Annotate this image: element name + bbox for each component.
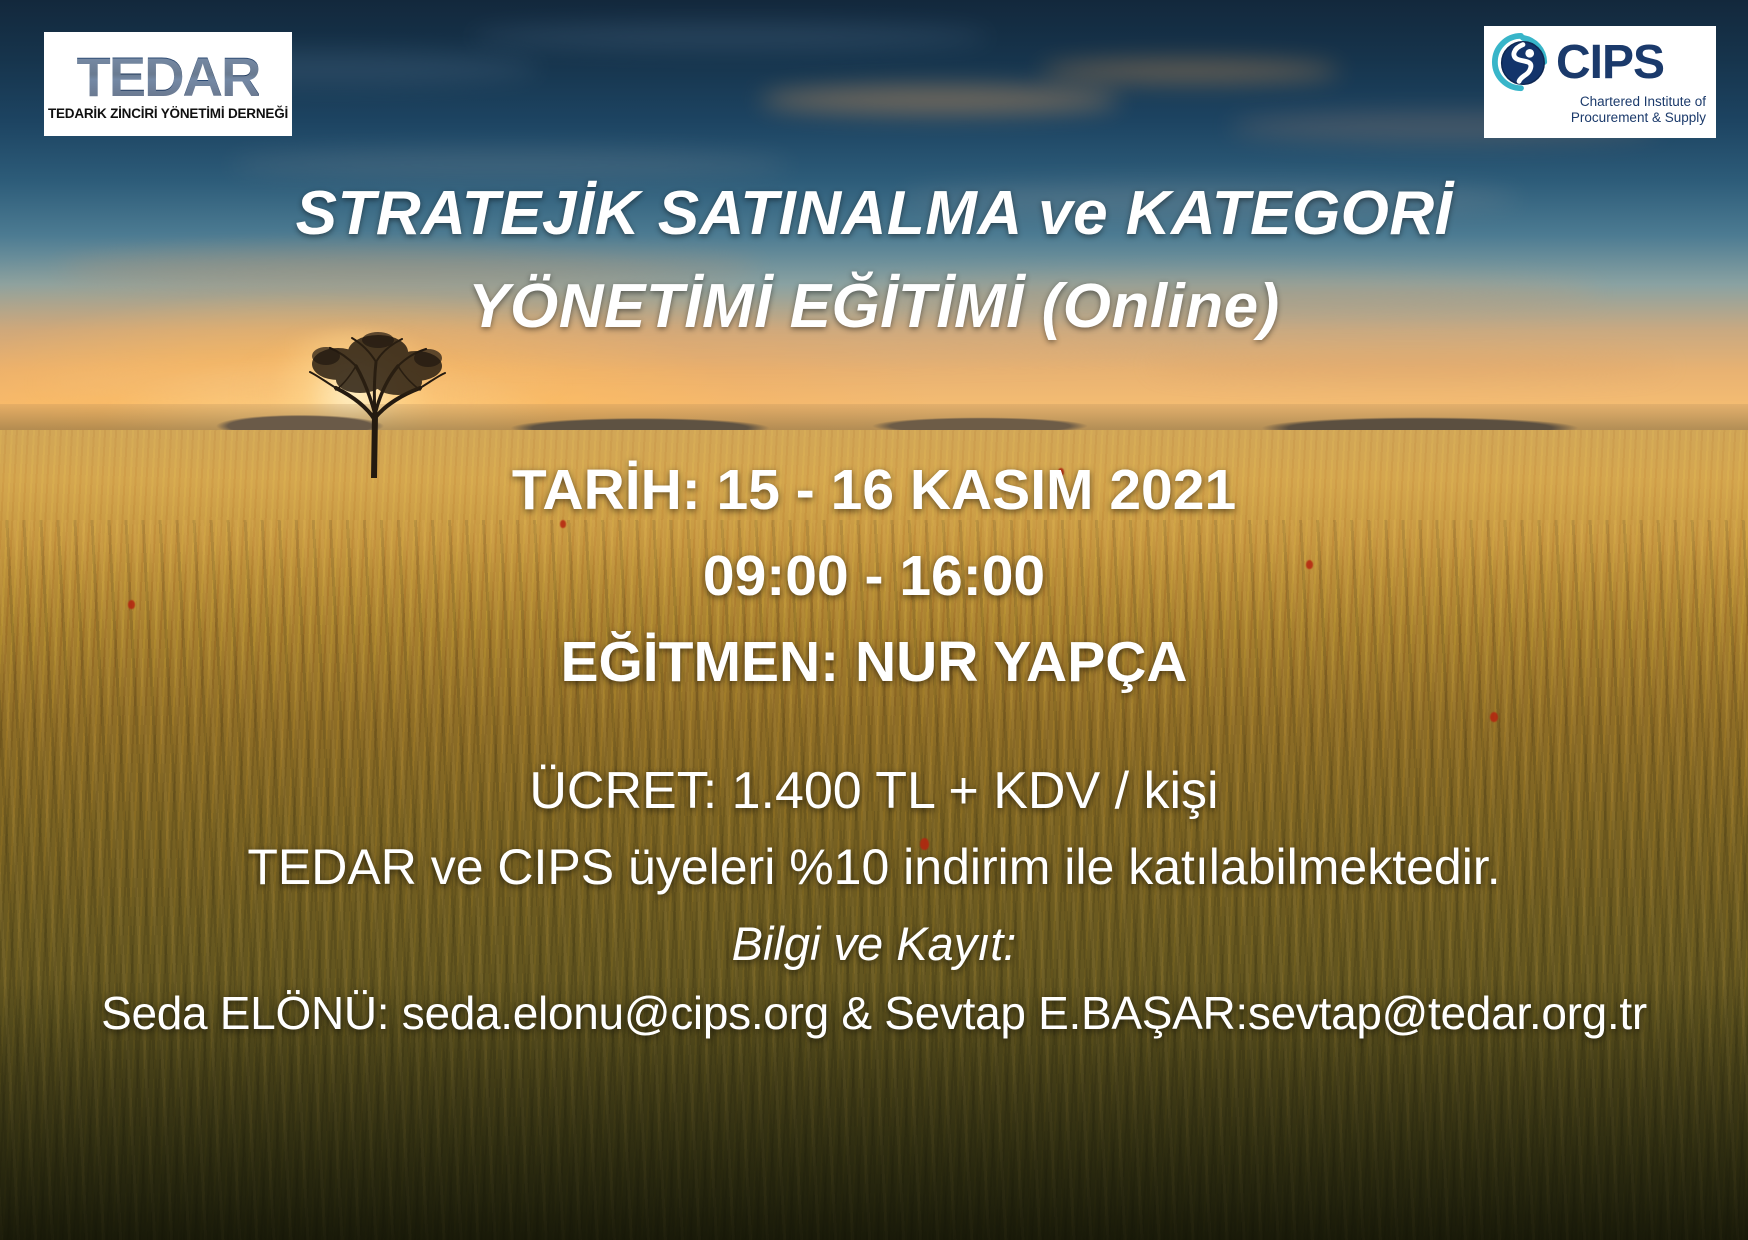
registration-heading: Bilgi ve Kayıt: xyxy=(0,920,1748,967)
event-time: 09:00 - 16:00 xyxy=(0,548,1748,605)
member-discount-note: TEDAR ve CIPS üyeleri %10 indirim ile ka… xyxy=(0,842,1748,892)
poster-content: STRATEJİK SATINALMA ve KATEGORİ YÖNETİMİ… xyxy=(0,0,1748,1240)
event-fee: ÜCRET: 1.400 TL + KDV / kişi xyxy=(0,765,1748,817)
event-trainer: EĞİTMEN: NUR YAPÇA xyxy=(0,634,1748,691)
page-title-line-2: YÖNETİMİ EĞİTİMİ (Online) xyxy=(0,275,1748,338)
contact-line: Seda ELÖNÜ: seda.elonu@cips.org & Sevtap… xyxy=(0,990,1748,1036)
poster: TEDAR TEDARİK ZİNCİRİ YÖNETİMİ DERNEĞİ C… xyxy=(0,0,1748,1240)
page-title-line-1: STRATEJİK SATINALMA ve KATEGORİ xyxy=(0,182,1748,245)
event-date: TARİH: 15 - 16 KASIM 2021 xyxy=(0,462,1748,519)
